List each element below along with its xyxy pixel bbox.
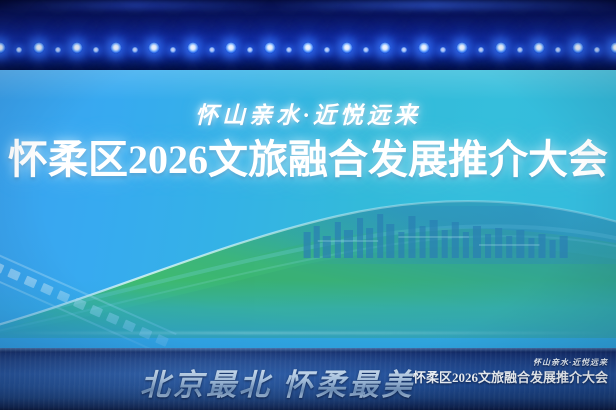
podium-mini-branding: 怀山亲水·近悦远来 怀柔区2026文旅融合发展推介大会: [413, 358, 608, 385]
podium-mini-title: 怀柔区2026文旅融合发展推介大会: [413, 371, 608, 385]
stage-light: [324, 47, 330, 53]
stage-light: [170, 47, 176, 53]
stage-backdrop-photo: 怀山亲水·近悦远来 怀柔区2026文旅融合发展推介大会 北京最北 怀柔最美 怀山…: [0, 0, 616, 410]
calligraphy-slogan: 怀山亲水·近悦远来: [0, 104, 616, 127]
stage-light: [401, 47, 407, 53]
stage-light: [132, 47, 138, 53]
stage-light: [418, 43, 429, 54]
led-screen: 怀山亲水·近悦远来 怀柔区2026文旅融合发展推介大会: [0, 70, 616, 350]
stage-light: [16, 47, 22, 53]
stage-light: [457, 43, 468, 54]
water-foreground: [0, 280, 616, 350]
podium-text-row: 北京最北 怀柔最美 怀山亲水·近悦远来 怀柔区2026文旅融合发展推介大会: [0, 348, 616, 410]
stage-light: [286, 47, 292, 53]
stage-light: [264, 43, 275, 54]
stage-light: [247, 47, 253, 53]
podium-mini-calligraphy: 怀山亲水·近悦远来: [413, 358, 608, 368]
stage-light: [72, 43, 83, 54]
stage-light: [93, 47, 99, 53]
stage-light: [517, 47, 523, 53]
stage-light: [187, 43, 198, 54]
stage-light: [440, 47, 446, 53]
stage-podium: 北京最北 怀柔最美 怀山亲水·近悦远来 怀柔区2026文旅融合发展推介大会: [0, 348, 616, 410]
stage-light: [380, 43, 391, 54]
stage-light: [594, 47, 600, 53]
stage-light: [149, 43, 160, 54]
stage-light: [55, 47, 61, 53]
stage-light-bar: [0, 30, 616, 70]
stage-light: [363, 47, 369, 53]
stage-light: [478, 47, 484, 53]
stage-light: [0, 43, 6, 54]
stage-light: [209, 47, 215, 53]
stage-light: [110, 43, 121, 54]
stage-light: [572, 43, 583, 54]
filmstrip-perforation: [0, 261, 4, 274]
ceiling-sheen: [0, 0, 616, 10]
stage-light: [303, 43, 314, 54]
stage-light: [33, 43, 44, 54]
stage-light: [534, 43, 545, 54]
stage-light: [611, 43, 616, 54]
podium-slogan: 北京最北 怀柔最美: [140, 360, 415, 404]
water-highlight-line: [0, 332, 616, 334]
stage-light: [555, 47, 561, 53]
stage-light: [226, 43, 237, 54]
stage-light: [495, 43, 506, 54]
screen-text-block: 怀山亲水·近悦远来 怀柔区2026文旅融合发展推介大会: [0, 104, 616, 181]
page-title: 怀柔区2026文旅融合发展推介大会: [0, 139, 616, 181]
screen-top-glow: [0, 70, 616, 100]
stage-light: [341, 43, 352, 54]
